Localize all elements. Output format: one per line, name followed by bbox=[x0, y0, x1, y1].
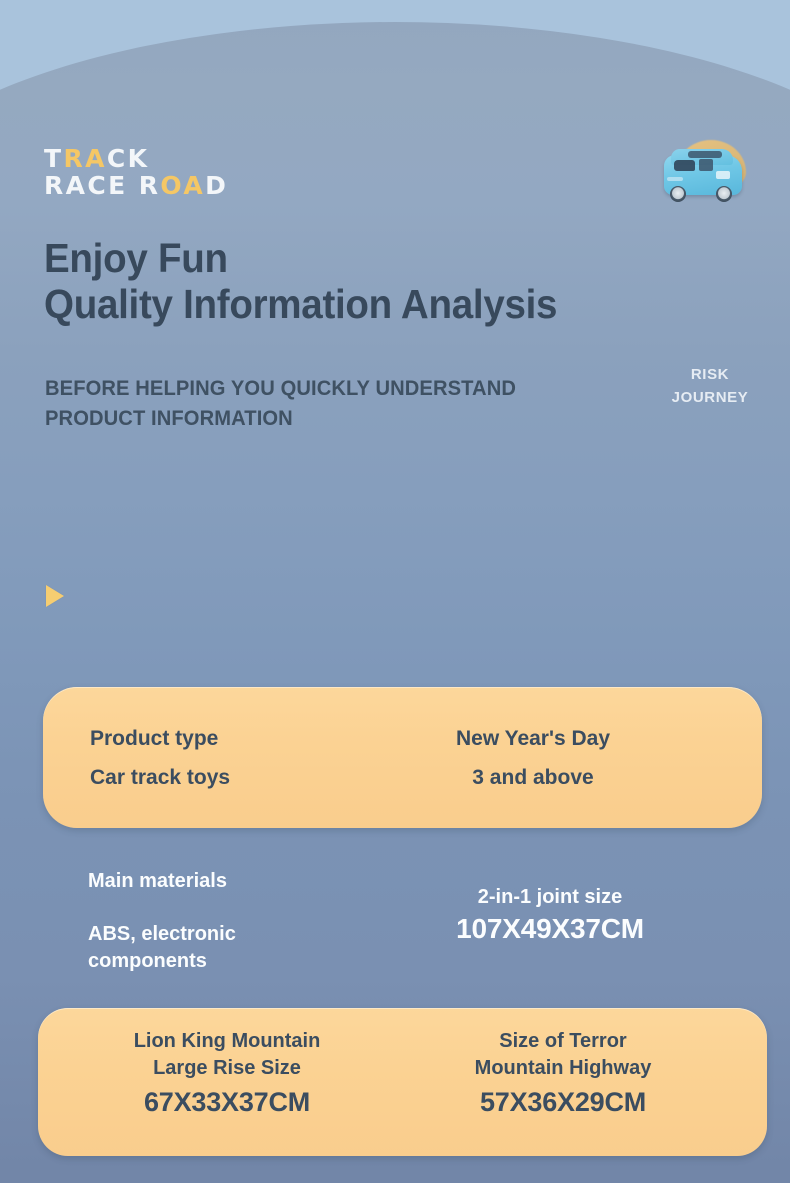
car-grille-icon bbox=[667, 177, 683, 181]
car-rear-window-icon bbox=[699, 159, 713, 171]
spec-label-terror-line2: Mountain Highway bbox=[393, 1055, 733, 1082]
toy-car-illustration bbox=[658, 138, 774, 222]
risk-journey-badge: RISK JOURNEY bbox=[640, 363, 780, 410]
page-title-line2: Quality Information Analysis bbox=[44, 282, 557, 328]
spec-value-main-materials-line1: ABS, electronic bbox=[88, 921, 388, 948]
spec-label-lion-king-line1: Lion King Mountain bbox=[62, 1028, 392, 1055]
risk-journey-line1: RISK bbox=[640, 363, 780, 386]
spec-label-main-materials: Main materials bbox=[88, 868, 388, 895]
spec-card-1-left-column: Product type Car track toys bbox=[90, 720, 230, 798]
page-subtitle-line2: PRODUCT INFORMATION bbox=[45, 404, 516, 434]
brand-logo: TRACK RACE ROAD bbox=[44, 146, 228, 199]
spec-card-3-column-terror-mountain: Size of Terror Mountain Highway 57X36X29… bbox=[393, 1028, 733, 1122]
car-decal-icon bbox=[716, 171, 730, 179]
spec-value-lion-king-dimension: 67X33X37CM bbox=[62, 1084, 392, 1122]
play-triangle-icon[interactable] bbox=[46, 585, 64, 607]
spec-middle-left-column: Main materials ABS, electronic component… bbox=[88, 868, 388, 975]
risk-journey-line2: JOURNEY bbox=[640, 386, 780, 409]
spec-label-joint-size: 2-in-1 joint size bbox=[400, 884, 700, 910]
spec-label-terror-line1: Size of Terror bbox=[393, 1028, 733, 1055]
spec-label-occasion: New Year's Day bbox=[383, 720, 683, 759]
page-subtitle-line1: BEFORE HELPING YOU QUICKLY UNDERSTAND bbox=[45, 374, 516, 404]
spec-card-product-type: Product type Car track toys New Year's D… bbox=[43, 687, 762, 828]
brand-logo-line2: RACE ROAD bbox=[44, 173, 228, 200]
car-rear-wheel-icon bbox=[716, 186, 732, 202]
spec-value-main-materials-line2: components bbox=[88, 948, 388, 975]
spec-middle-right-column: 2-in-1 joint size 107X49X37CM bbox=[400, 884, 700, 948]
page-title-line1: Enjoy Fun bbox=[44, 236, 557, 282]
spec-value-age-range: 3 and above bbox=[383, 759, 683, 798]
brand-logo-line1: TRACK bbox=[44, 146, 228, 173]
product-infographic-page: TRACK RACE ROAD Enjoy Fun Quality Inform… bbox=[0, 0, 790, 1183]
spec-value-joint-size: 107X49X37CM bbox=[400, 910, 700, 948]
car-front-wheel-icon bbox=[670, 186, 686, 202]
car-front-window-icon bbox=[674, 160, 695, 171]
page-title: Enjoy Fun Quality Information Analysis bbox=[44, 236, 557, 328]
spec-card-3-column-lion-king: Lion King Mountain Large Rise Size 67X33… bbox=[62, 1028, 392, 1122]
spec-label-product-type: Product type bbox=[90, 720, 230, 759]
car-roof-rack-icon bbox=[688, 151, 722, 158]
spec-label-lion-king-line2: Large Rise Size bbox=[62, 1055, 392, 1082]
spec-value-terror-dimension: 57X36X29CM bbox=[393, 1084, 733, 1122]
spec-card-1-right-column: New Year's Day 3 and above bbox=[383, 720, 683, 798]
spec-card-mountain-sizes: Lion King Mountain Large Rise Size 67X33… bbox=[38, 1008, 767, 1156]
page-subtitle: BEFORE HELPING YOU QUICKLY UNDERSTAND PR… bbox=[45, 374, 516, 434]
spec-value-product-type: Car track toys bbox=[90, 759, 230, 798]
